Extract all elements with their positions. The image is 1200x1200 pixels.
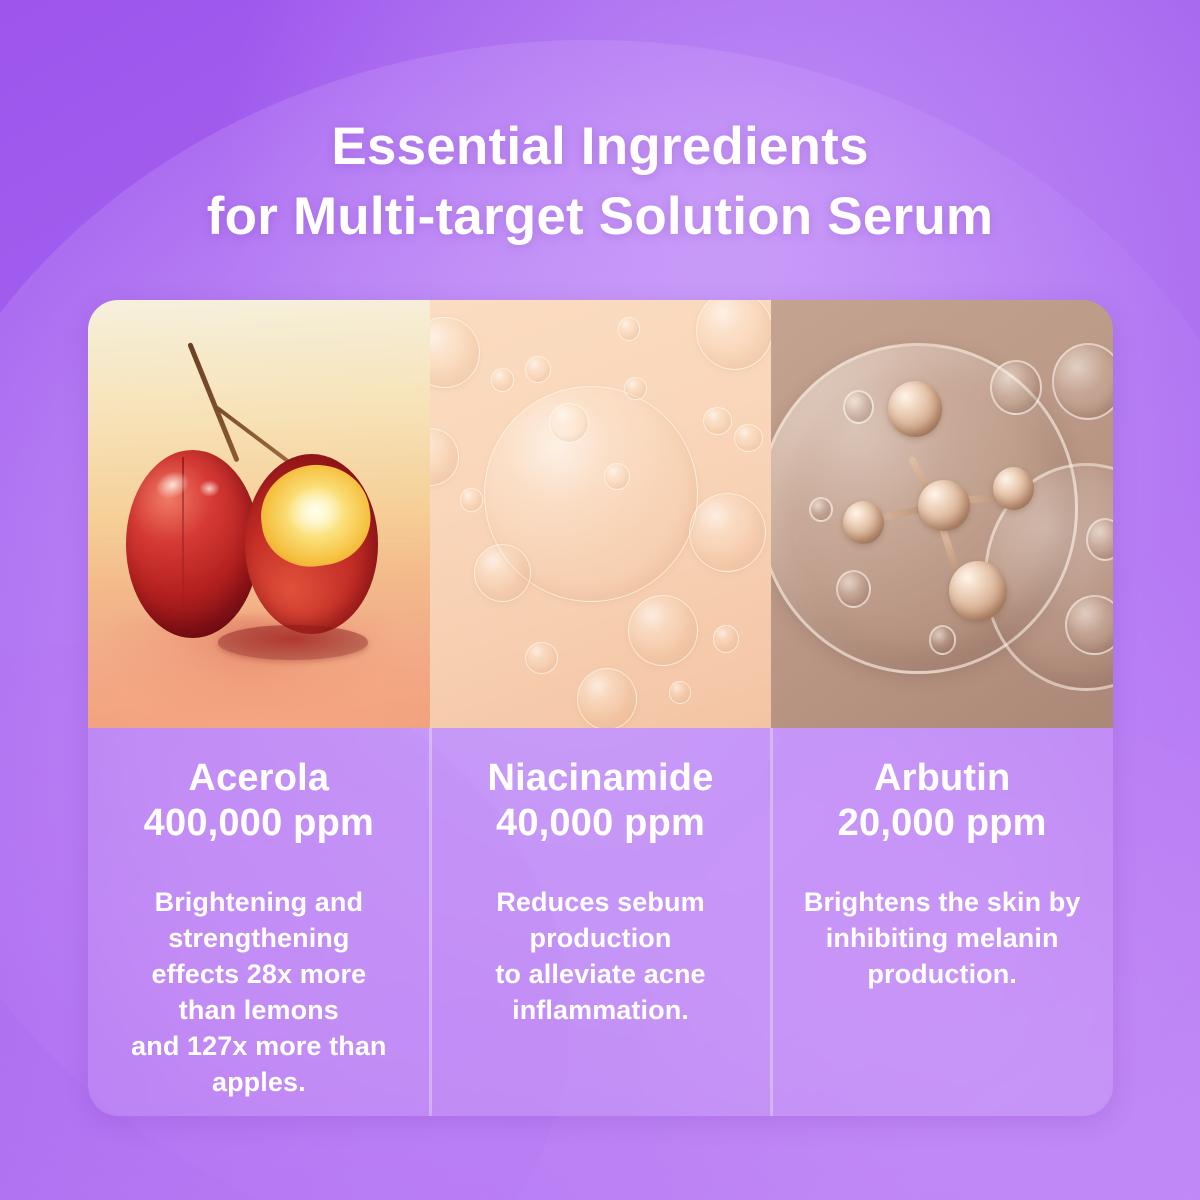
- ingredient-infographic-poster: Essential Ingredients for Multi-target S…: [0, 0, 1200, 1200]
- cherry-highlight-small: [199, 480, 220, 497]
- cherry-highlight-large: [151, 467, 193, 504]
- molecule-atom-right: [993, 467, 1034, 510]
- ingredient-name-niacinamide: Niacinamide: [448, 756, 754, 801]
- ingredient-description-acerola: Brightening and strengthening effects 28…: [106, 884, 412, 1100]
- bubble-tiny-11: [604, 463, 630, 491]
- ingredient-column-arbutin: Arbutin 20,000 ppm Brightens the skin by…: [771, 728, 1113, 1116]
- bubble-tiny-9: [525, 642, 558, 674]
- ingredient-column-acerola: Acerola 400,000 ppm Brightening and stre…: [88, 728, 430, 1116]
- ingredient-name-acerola: Acerola: [106, 756, 412, 801]
- droplet-top-right: [990, 360, 1042, 415]
- droplet-right-lower: [1065, 595, 1113, 655]
- bubble-tiny-4: [618, 317, 641, 340]
- ingredient-amount-acerola: 400,000 ppm: [106, 801, 412, 846]
- bubble-tiny-5: [624, 377, 647, 400]
- bubble-upper-left: [430, 317, 480, 387]
- droplet-left-small: [843, 390, 874, 424]
- whole-cherry-shape: [126, 450, 259, 638]
- bubble-tiny-1: [549, 403, 589, 444]
- droplet-bottom-left: [836, 570, 871, 608]
- ingredient-image-acerola: [88, 300, 430, 728]
- ingredient-amount-arbutin: 20,000 ppm: [789, 801, 1095, 846]
- cherry-flesh: [255, 458, 377, 573]
- bubble-right-mid: [689, 493, 766, 572]
- acerola-cherry-photo: [88, 300, 430, 728]
- bubble-tiny-3: [491, 368, 514, 391]
- bubble-tiny-7: [734, 424, 763, 452]
- ingredient-image-niacinamide: [430, 300, 772, 728]
- molecule-atom-top: [888, 381, 943, 437]
- cherry-juice-drip: [218, 625, 368, 659]
- ingredient-text-row: Acerola 400,000 ppm Brightening and stre…: [88, 728, 1113, 1116]
- molecule-atom-bottom: [949, 561, 1007, 621]
- ingredient-column-niacinamide: Niacinamide 40,000 ppm Reduces sebum pro…: [430, 728, 772, 1116]
- ingredient-amount-niacinamide: 40,000 ppm: [448, 801, 754, 846]
- page-title: Essential Ingredients for Multi-target S…: [0, 112, 1200, 252]
- ingredient-image-arbutin: [771, 300, 1113, 728]
- bubble-tiny-8: [460, 488, 483, 511]
- bubble-bottom: [577, 668, 637, 728]
- page-title-line-2: for Multi-target Solution Serum: [0, 182, 1200, 252]
- bubble-lower-left: [474, 544, 531, 602]
- arbutin-molecule-photo: [771, 300, 1113, 728]
- droplet-corner-right: [1052, 343, 1114, 420]
- bubble-left-edge: [430, 428, 459, 486]
- ingredient-name-arbutin: Arbutin: [789, 756, 1095, 801]
- molecule-atom-center: [918, 480, 969, 531]
- niacinamide-bubbles-photo: [430, 300, 772, 728]
- ingredient-image-row: [88, 300, 1113, 728]
- bubble-lower-center: [628, 595, 698, 665]
- halved-cherry-shape: [245, 454, 378, 634]
- bubble-tiny-12: [669, 681, 692, 704]
- bubble-tiny-10: [713, 625, 739, 653]
- cherry-stem-icon: [187, 342, 240, 463]
- ingredients-card: Acerola 400,000 ppm Brightening and stre…: [88, 300, 1113, 1116]
- ingredient-description-niacinamide: Reduces sebum production to alleviate ac…: [448, 884, 754, 1028]
- molecule-atom-left: [843, 501, 884, 544]
- bubble-tiny-6: [703, 407, 732, 435]
- droplet-bottom-center: [929, 625, 957, 655]
- ingredient-description-arbutin: Brightens the skin by inhibiting melanin…: [789, 884, 1095, 992]
- bubble-upper-right: [696, 300, 771, 370]
- page-title-line-1: Essential Ingredients: [0, 112, 1200, 182]
- bubble-tiny-2: [525, 356, 551, 384]
